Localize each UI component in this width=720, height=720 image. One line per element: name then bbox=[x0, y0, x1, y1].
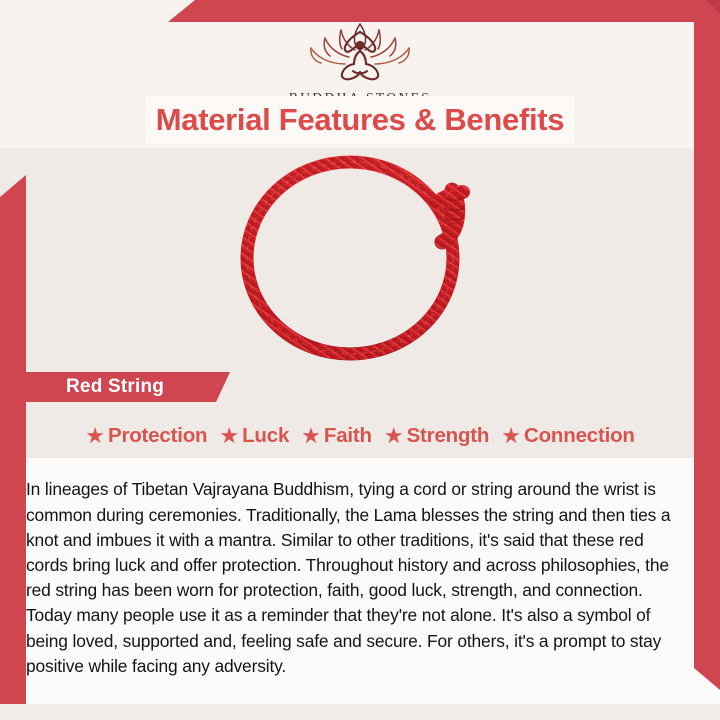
decorative-left-bar bbox=[0, 175, 26, 720]
benefit-label: Luck bbox=[242, 424, 289, 448]
benefits-row: ★ Protection ★ Luck ★ Faith ★ Strength ★… bbox=[30, 418, 690, 454]
star-icon: ★ bbox=[301, 425, 321, 447]
lotus-meditation-figure-icon bbox=[301, 18, 419, 86]
description-text: In lineages of Tibetan Vajrayana Buddhis… bbox=[26, 477, 694, 679]
page-title-banner: Material Features & Benefits bbox=[146, 96, 574, 144]
benefit-label: Strength bbox=[407, 424, 490, 448]
product-image-area bbox=[26, 150, 694, 372]
infographic-page: BUDDHA STONES Material Features & Benefi… bbox=[0, 0, 720, 720]
benefit-item-connection: ★ Connection bbox=[501, 424, 634, 448]
benefit-item-protection: ★ Protection bbox=[85, 424, 207, 448]
benefit-label: Faith bbox=[324, 424, 372, 448]
benefit-label: Protection bbox=[108, 424, 207, 448]
benefit-item-faith: ★ Faith bbox=[301, 424, 372, 448]
decorative-bottom-bar bbox=[0, 704, 720, 720]
red-braided-string-bracelet-image bbox=[230, 150, 490, 372]
page-title: Material Features & Benefits bbox=[156, 102, 565, 138]
star-icon: ★ bbox=[501, 425, 521, 447]
benefit-item-luck: ★ Luck bbox=[219, 424, 289, 448]
product-name-ribbon: Red String bbox=[14, 372, 230, 402]
benefit-label: Connection bbox=[524, 424, 635, 448]
benefit-item-strength: ★ Strength bbox=[384, 424, 489, 448]
star-icon: ★ bbox=[219, 425, 239, 447]
star-icon: ★ bbox=[384, 425, 404, 447]
brand-logo: BUDDHA STONES bbox=[0, 18, 720, 106]
product-name: Red String bbox=[66, 376, 164, 398]
star-icon: ★ bbox=[85, 425, 105, 447]
